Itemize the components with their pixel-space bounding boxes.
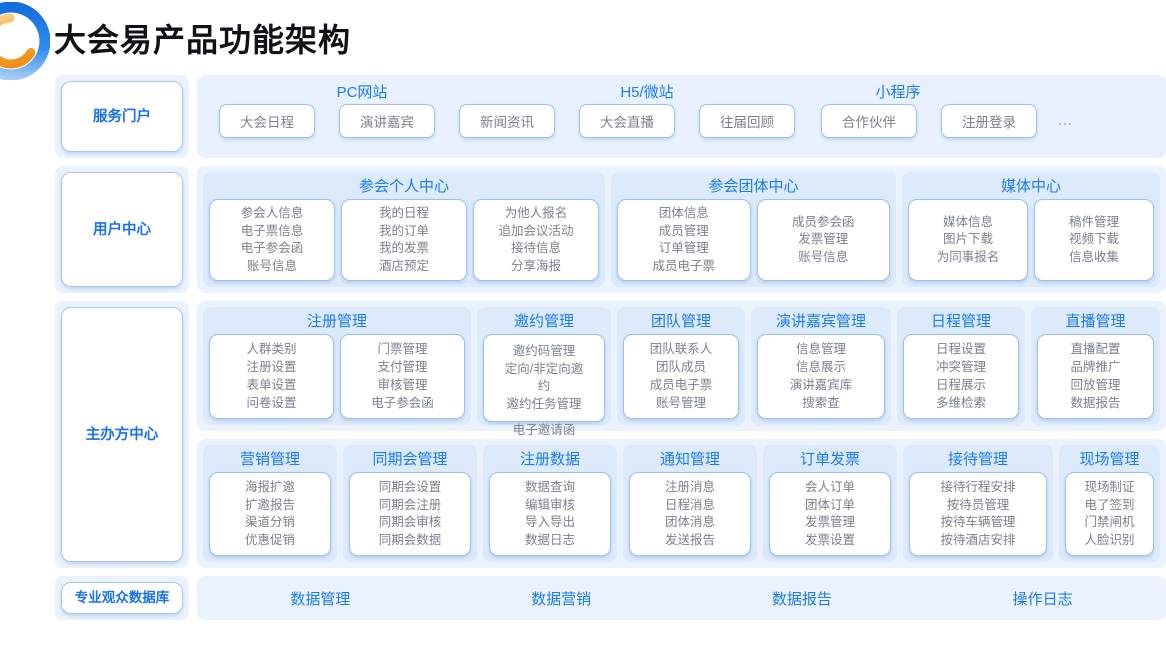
organizer-row-2: 营销管理 海报扩邀 扩邀报告 渠道分销 优惠促销 同期会管理 <box>197 439 1166 568</box>
card-item: 团体订单 <box>805 497 855 515</box>
card-media-info[interactable]: 媒体信息 图片下载 为同事报名 <box>908 199 1028 281</box>
card-item: 搜索查 <box>802 395 840 413</box>
lane-chip-organizer-center[interactable]: 主办方 中心 <box>61 307 183 562</box>
band-organizer-center: 主办方 中心 注册管理 人群类别 注册设置 表单设置 问卷设置 <box>55 301 1166 568</box>
card-item: 我的日程 <box>379 205 429 223</box>
card-item: 日程展示 <box>936 377 986 395</box>
portal-channel-pc: PC网站 <box>203 85 521 100</box>
group-registration-data: 注册数据 数据查询 编辑审核 导入导出 数据日志 <box>483 445 617 562</box>
group-title: 参会团体中心 <box>708 179 798 194</box>
group-speaker-mgmt: 演讲嘉宾管理 信息管理 信息展示 演讲嘉宾库 搜索查 <box>751 307 891 425</box>
card-item: 门禁闸机 <box>1084 514 1134 532</box>
card-member-invoice[interactable]: 成员参会函 发票管理 账号信息 <box>757 199 891 281</box>
architecture-diagram: 大会易产品功能架构 服务门户 PC网站 H5/微站 小程序 大会日程 演讲嘉宾 <box>0 0 1166 653</box>
group-invitation-mgmt: 邀约管理 邀约码管理 定向/非定向邀 约 邀约任务管理 电子邀请函 <box>477 307 611 425</box>
card-item: 我的订单 <box>379 223 429 241</box>
portal-channel-titles: PC网站 H5/微站 小程序 <box>203 81 1160 104</box>
portal-pill-schedule[interactable]: 大会日程 <box>219 104 315 138</box>
lane-label-service-portal: 服务门户 <box>55 75 189 158</box>
board: 服务门户 PC网站 H5/微站 小程序 大会日程 演讲嘉宾 新闻资讯 大会直播 <box>55 75 1166 620</box>
band-audience-database: 专业观众数据库 数据管理 数据营销 数据报告 操作日志 <box>55 576 1166 620</box>
card-item: 日程设置 <box>936 341 986 359</box>
service-portal-body: PC网站 H5/微站 小程序 大会日程 演讲嘉宾 新闻资讯 大会直播 往届回顾 <box>197 75 1166 158</box>
card-item: 电子参会函 <box>241 240 304 258</box>
page-title: 大会易产品功能架构 <box>54 15 351 61</box>
card-item: 数据报告 <box>1070 395 1120 413</box>
card-registration-message[interactable]: 注册消息 日程消息 团体消息 发送报告 <box>629 472 751 556</box>
card-item: 发票管理 <box>805 514 855 532</box>
card-item: 发送报告 <box>665 532 715 550</box>
card-onsite-badging[interactable]: 现场制证 电了签到 门禁闸机 人脸识别 <box>1065 472 1154 556</box>
card-group-info[interactable]: 团体信息 成员管理 订单管理 成员电子票 <box>617 199 751 281</box>
group-agenda-mgmt: 日程管理 日程设置 冲突管理 日程展示 多维检索 <box>897 307 1025 425</box>
card-team-contacts[interactable]: 团队联系人 团队成员 成员电子票 账号管理 <box>623 334 739 419</box>
portal-pill-row: 大会日程 演讲嘉宾 新闻资讯 大会直播 往届回顾 合作伙伴 注册登录 … <box>203 104 1160 141</box>
lane-chip-line2: 中心 <box>129 426 158 444</box>
card-item: 发票设置 <box>805 532 855 550</box>
card-item: 稿件管理 <box>1069 214 1119 232</box>
portal-channel-h5: H5/微站 <box>521 85 773 100</box>
card-item: 图片下载 <box>943 231 993 249</box>
group-title: 注册数据 <box>520 452 580 467</box>
card-my-items[interactable]: 我的日程 我的订单 我的发票 酒店预定 <box>341 199 467 281</box>
card-item: 账号信息 <box>798 249 848 267</box>
card-item: 视频下载 <box>1069 231 1119 249</box>
card-item: 定向/非定向邀 <box>505 361 583 379</box>
card-item: 演讲嘉宾库 <box>790 377 853 395</box>
card-item: 邀约码管理 <box>513 343 576 361</box>
portal-pill-partners[interactable]: 合作伙伴 <box>821 104 917 138</box>
card-item: 渠道分销 <box>245 514 295 532</box>
card-item: 电了签到 <box>1084 497 1134 515</box>
card-attendee-order[interactable]: 会人订单 团体订单 发票管理 发票设置 <box>769 472 891 556</box>
lane-chip-audience-database[interactable]: 专业观众数据库 <box>61 582 183 614</box>
card-invitation-code[interactable]: 邀约码管理 定向/非定向邀 约 邀约任务管理 电子邀请函 <box>483 334 605 422</box>
card-item: 成员参会函 <box>792 214 855 232</box>
group-registration-mgmt: 注册管理 人群类别 注册设置 表单设置 问卷设置 门票管理 支付管理 <box>203 307 471 425</box>
data-item-data-management[interactable]: 数据管理 <box>203 588 438 609</box>
group-title: 接待管理 <box>948 452 1008 467</box>
card-item: 按待员管理 <box>947 497 1010 515</box>
card-item: 接待信息 <box>511 240 561 258</box>
data-item-data-marketing[interactable]: 数据营销 <box>444 588 679 609</box>
card-item: 信息管理 <box>796 341 846 359</box>
card-item: 人脸识别 <box>1084 532 1134 550</box>
card-item: 我的发票 <box>379 240 429 258</box>
card-item: 成员管理 <box>659 223 709 241</box>
card-item: 追加会议活动 <box>498 223 573 241</box>
card-item: 按待酒店安排 <box>940 532 1015 550</box>
portal-pill-speakers[interactable]: 演讲嘉宾 <box>339 104 435 138</box>
group-title: 演讲嘉宾管理 <box>776 314 866 329</box>
card-item: 日程消息 <box>665 497 715 515</box>
card-item: 表单设置 <box>246 377 296 395</box>
portal-pill-register-login[interactable]: 注册登录 <box>941 104 1037 138</box>
data-item-data-report[interactable]: 数据报告 <box>685 588 920 609</box>
lane-label-audience-database: 专业观众数据库 <box>55 576 189 620</box>
group-marketing-mgmt: 营销管理 海报扩邀 扩邀报告 渠道分销 优惠促销 <box>203 445 337 562</box>
card-item: 信息展示 <box>796 359 846 377</box>
card-item: 媒体信息 <box>943 214 993 232</box>
card-item: 为同事报名 <box>937 249 1000 267</box>
lane-label-user-center: 用户中心 <box>55 166 189 293</box>
group-live-mgmt: 直播管理 直播配置 品牌推广 回放管理 数据报告 <box>1031 307 1160 425</box>
card-item: 扩邀报告 <box>245 497 295 515</box>
card-item: 直播配置 <box>1070 341 1120 359</box>
organizer-row-1: 注册管理 人群类别 注册设置 表单设置 问卷设置 门票管理 支付管理 <box>197 301 1166 431</box>
card-item: 同期会数据 <box>379 532 442 550</box>
portal-pill-review[interactable]: 往届回顾 <box>699 104 795 138</box>
band-user-center: 用户中心 参会个人中心 参会人信息 电子票信息 电子参会函 账号信息 我的日程 <box>55 166 1166 293</box>
card-item: 数据查询 <box>525 479 575 497</box>
card-item: 约 <box>538 378 551 396</box>
group-order-invoice: 订单发票 会人订单 团体订单 发票管理 发票设置 <box>763 445 897 562</box>
card-item: 冲突管理 <box>936 359 986 377</box>
card-item: 团体消息 <box>665 514 715 532</box>
card-speaker-info[interactable]: 信息管理 信息展示 演讲嘉宾库 搜索查 <box>757 334 885 419</box>
card-item: 账号管理 <box>656 395 706 413</box>
card-item: 现场制证 <box>1084 479 1134 497</box>
card-item: 注册设置 <box>246 359 296 377</box>
card-item: 团队联系人 <box>650 341 713 359</box>
card-item: 同期会审核 <box>379 514 442 532</box>
card-item: 多维检索 <box>936 395 986 413</box>
data-item-operation-log[interactable]: 操作日志 <box>925 588 1160 609</box>
card-agenda-settings[interactable]: 日程设置 冲突管理 日程展示 多维检索 <box>903 334 1019 419</box>
card-item: 订单管理 <box>659 240 709 258</box>
card-item: 优惠促销 <box>245 532 295 550</box>
lane-chip-user-center[interactable]: 用户中心 <box>61 172 183 287</box>
card-item: 数据日志 <box>525 532 575 550</box>
group-团体-center: 参会团体中心 团体信息 成员管理 订单管理 成员电子票 成员参会函 发票管理 账… <box>611 172 896 287</box>
card-item: 审核管理 <box>377 377 427 395</box>
card-item: 人群类别 <box>246 341 296 359</box>
card-concurrent-settings[interactable]: 同期会设置 同期会注册 同期会审核 同期会数据 <box>349 472 471 556</box>
card-item: 注册消息 <box>665 479 715 497</box>
card-item: 问卷设置 <box>246 395 296 413</box>
card-item: 同期会设置 <box>379 479 442 497</box>
card-item: 门票管理 <box>377 341 427 359</box>
band-service-portal: 服务门户 PC网站 H5/微站 小程序 大会日程 演讲嘉宾 新闻资讯 大会直播 <box>55 75 1166 158</box>
card-manuscript[interactable]: 稿件管理 视频下载 信息收集 <box>1034 199 1154 281</box>
lane-label-organizer-center: 主办方 中心 <box>55 301 189 568</box>
card-item: 品牌推广 <box>1070 359 1120 377</box>
group-reception-mgmt: 接待管理 接待行程安排 按待员管理 按待车辆管理 按待酒店安排 <box>903 445 1053 562</box>
portal-more-icon[interactable]: … <box>1057 112 1075 130</box>
card-item: 接待行程安排 <box>940 479 1015 497</box>
data-band-body: 数据管理 数据营销 数据报告 操作日志 <box>197 576 1166 620</box>
card-live-config[interactable]: 直播配置 品牌推广 回放管理 数据报告 <box>1037 334 1154 419</box>
card-item-overflow: 电子邀请函 <box>483 422 605 440</box>
card-item: 分享海报 <box>511 258 561 276</box>
card-ticket-mgmt[interactable]: 门票管理 支付管理 审核管理 电子参会函 <box>340 334 465 419</box>
circular-swirl-logo <box>0 2 50 80</box>
card-item: 成员电子票 <box>650 377 713 395</box>
user-center-body: 参会个人中心 参会人信息 电子票信息 电子参会函 账号信息 我的日程 我的订单 … <box>197 166 1166 293</box>
card-item: 账号信息 <box>247 258 297 276</box>
group-title: 营销管理 <box>240 452 300 467</box>
card-item: 团队成员 <box>656 359 706 377</box>
card-register-for-others[interactable]: 为他人报名 追加会议活动 接待信息 分享海报 <box>473 199 599 281</box>
group-title: 注册管理 <box>307 314 367 329</box>
group-title: 参会个人中心 <box>359 179 449 194</box>
group-title: 日程管理 <box>931 314 991 329</box>
card-item: 导入导出 <box>525 514 575 532</box>
card-item: 同期会注册 <box>379 497 442 515</box>
card-item: 为他人报名 <box>505 205 568 223</box>
group-title: 现场管理 <box>1079 452 1139 467</box>
group-concurrent-mtg-mgmt: 同期会管理 同期会设置 同期会注册 同期会审核 同期会数据 <box>343 445 477 562</box>
group-onsite-mgmt: 现场管理 现场制证 电了签到 门禁闸机 人脸识别 <box>1059 445 1160 562</box>
card-data-query[interactable]: 数据查询 编辑审核 导入导出 数据日志 <box>489 472 611 556</box>
card-item: 成员电子票 <box>652 258 715 276</box>
portal-pill-live[interactable]: 大会直播 <box>579 104 675 138</box>
card-registration-settings[interactable]: 人群类别 注册设置 表单设置 问卷设置 <box>209 334 334 419</box>
card-item: 酒店预定 <box>379 258 429 276</box>
group-team-mgmt: 团队管理 团队联系人 团队成员 成员电子票 账号管理 <box>617 307 745 425</box>
card-poster-invite[interactable]: 海报扩邀 扩邀报告 渠道分销 优惠促销 <box>209 472 331 556</box>
card-item: 海报扩邀 <box>245 479 295 497</box>
card-item: 邀约任务管理 <box>506 396 581 414</box>
card-item: 编辑审核 <box>525 497 575 515</box>
card-item: 回放管理 <box>1070 377 1120 395</box>
group-title: 团队管理 <box>651 314 711 329</box>
card-item: 电子参会函 <box>371 395 434 413</box>
portal-pill-news[interactable]: 新闻资讯 <box>459 104 555 138</box>
card-item: 会人订单 <box>805 479 855 497</box>
card-reception-itinerary[interactable]: 接待行程安排 按待员管理 按待车辆管理 按待酒店安排 <box>909 472 1047 556</box>
card-item: 参会人信息 <box>241 205 304 223</box>
card-item: 发票管理 <box>798 231 848 249</box>
group-title: 同期会管理 <box>372 452 447 467</box>
lane-chip-line1: 主办方 <box>86 426 130 444</box>
card-item: 电子票信息 <box>241 223 304 241</box>
portal-channel-mini: 小程序 <box>773 85 1023 100</box>
group-title: 通知管理 <box>660 452 720 467</box>
card-item: 团体信息 <box>659 205 709 223</box>
group-media-center: 媒体中心 媒体信息 图片下载 为同事报名 稿件管理 视频下载 信息收集 <box>902 172 1160 287</box>
group-title: 直播管理 <box>1065 314 1125 329</box>
group-title: 订单发票 <box>800 452 860 467</box>
card-item: 支付管理 <box>377 359 427 377</box>
card-item: 信息收集 <box>1069 249 1119 267</box>
card-item: 按待车辆管理 <box>940 514 1015 532</box>
group-title: 邀约管理 <box>514 314 574 329</box>
lane-chip-service-portal[interactable]: 服务门户 <box>61 81 183 152</box>
group-notification-mgmt: 通知管理 注册消息 日程消息 团体消息 发送报告 <box>623 445 757 562</box>
card-attendee-info[interactable]: 参会人信息 电子票信息 电子参会函 账号信息 <box>209 199 335 281</box>
group-personal-center: 参会个人中心 参会人信息 电子票信息 电子参会函 账号信息 我的日程 我的订单 … <box>203 172 605 287</box>
group-title: 媒体中心 <box>1001 179 1061 194</box>
